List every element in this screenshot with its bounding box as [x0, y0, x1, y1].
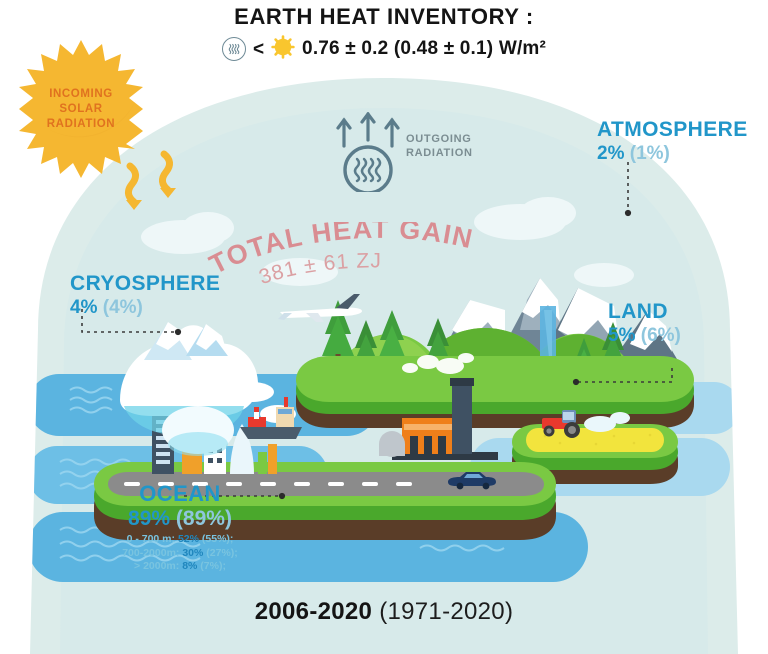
heat-inventory-value: 0.76 ± 0.2 (0.48 ± 0.1) W/m² — [302, 38, 546, 60]
up-arrows-icon — [338, 114, 398, 146]
incoming-line3: RADIATION — [47, 117, 115, 132]
infographic-canvas: EARTH HEAT INVENTORY : < — [0, 0, 768, 654]
land-name: LAND — [608, 300, 681, 324]
incoming-line1: INCOMING — [49, 87, 113, 102]
label-ocean: OCEAN 89% (89%) 0 - 700 m: 52% (55%); 70… — [80, 482, 280, 574]
label-land: LAND 5% (6%) — [608, 300, 681, 347]
depth-range: 0 - 700 m: — [127, 533, 175, 545]
atmosphere-secondary: (1%) — [630, 143, 670, 164]
heat-waves-circle-icon — [345, 147, 391, 192]
ocean-depth-breakdown: 0 - 700 m: 52% (55%); 700-2000m: 30% (27… — [80, 533, 280, 574]
atmosphere-value: 2% (1%) — [597, 142, 748, 165]
period-secondary: (1971-2020) — [379, 598, 513, 625]
ocean-secondary: (89%) — [176, 507, 232, 530]
ocean-primary: 89% — [128, 507, 170, 530]
depth-primary: 52% — [178, 533, 199, 545]
outgoing-line1: OUTGOING — [406, 132, 473, 146]
ocean-value: 89% (89%) — [80, 507, 280, 530]
depth-range: 700-2000m: — [122, 547, 179, 559]
depth-primary: 8% — [182, 560, 197, 572]
main-island — [296, 356, 694, 428]
outgoing-radiation-group: OUTGOING RADIATION — [330, 112, 530, 190]
land-secondary: (6%) — [641, 325, 681, 346]
depth-secondary: (7%); — [200, 560, 226, 572]
outgoing-line2: RADIATION — [406, 146, 473, 160]
land-value: 5% (6%) — [608, 324, 681, 347]
ocean-depth-row: 700-2000m: 30% (27%); — [80, 547, 280, 561]
depth-secondary: (27%); — [206, 547, 238, 559]
atmosphere-name: ATMOSPHERE — [597, 118, 748, 142]
depth-primary: 30% — [182, 547, 203, 559]
cryosphere-secondary: (4%) — [103, 297, 143, 318]
cryosphere-value: 4% (4%) — [70, 296, 220, 319]
depth-secondary: (55%); — [202, 533, 234, 545]
cryosphere-name: CRYOSPHERE — [70, 272, 220, 296]
less-than-symbol: < — [253, 40, 264, 59]
label-cryosphere: CRYOSPHERE 4% (4%) — [70, 272, 220, 319]
ocean-depth-row: > 2000m: 8% (7%); — [80, 560, 280, 574]
sun-icon — [271, 35, 295, 64]
squiggly-arrow-icon — [112, 148, 212, 218]
cryosphere-primary: 4% — [70, 297, 97, 318]
depth-range: > 2000m: — [134, 560, 179, 572]
ocean-depth-row: 0 - 700 m: 52% (55%); — [80, 533, 280, 547]
total-heat-gain-group: TOTAL HEAT GAIN 381 ± 61 ZJ — [200, 222, 530, 292]
ocean-name: OCEAN — [80, 482, 280, 506]
land-primary: 5% — [608, 325, 635, 346]
label-atmosphere: ATMOSPHERE 2% (1%) — [597, 118, 748, 165]
page-title: EARTH HEAT INVENTORY : — [0, 4, 768, 30]
period-footer: 2006-2020 (1971-2020) — [0, 598, 768, 626]
outgoing-radiation-label: OUTGOING RADIATION — [406, 132, 473, 160]
incoming-line2: SOLAR — [59, 102, 102, 117]
heat-waves-circle-icon — [222, 37, 246, 61]
period-primary: 2006-2020 — [255, 598, 372, 625]
atmosphere-primary: 2% — [597, 143, 624, 164]
